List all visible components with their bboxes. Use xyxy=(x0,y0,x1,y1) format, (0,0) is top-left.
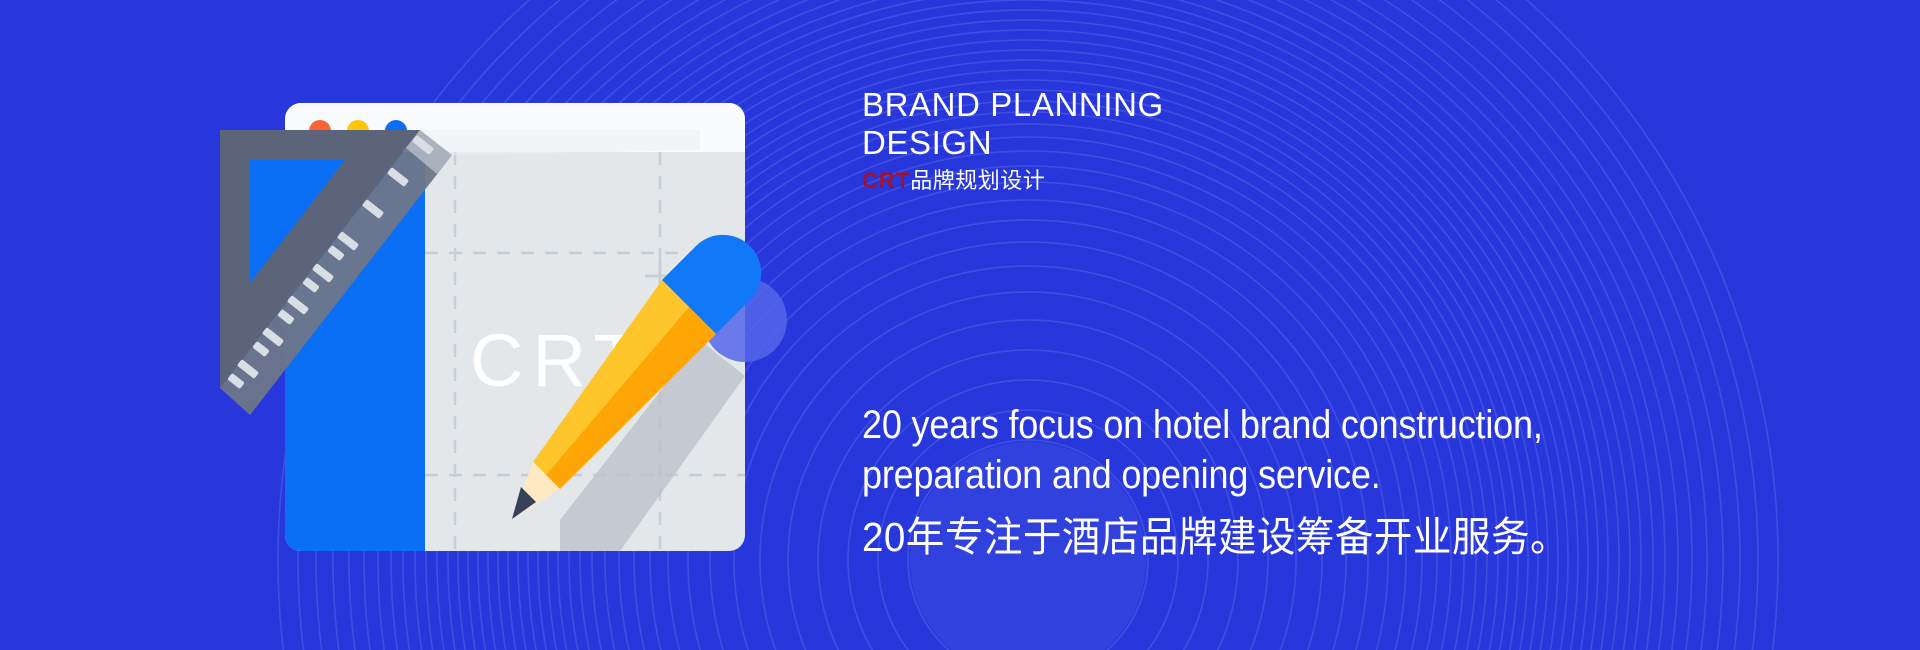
hero-illustration: CRT xyxy=(0,0,860,650)
headline-english-line-1: 20 years focus on hotel brand constructi… xyxy=(862,400,1798,450)
headline-chinese: 20年专注于酒店品牌建设筹备开业服务。 xyxy=(862,513,1840,562)
eyebrow-line-2: DESIGN xyxy=(862,124,1482,162)
headline-block: 20 years focus on hotel brand constructi… xyxy=(862,400,1902,562)
copy-column: BRAND PLANNING DESIGN CRT品牌规划设计 20 years… xyxy=(862,0,1920,650)
banner-root: CRT xyxy=(0,0,1920,650)
eyebrow-chinese: CRT品牌规划设计 xyxy=(862,167,1482,195)
brand-mark-crt: CRT xyxy=(862,168,910,193)
eyebrow-block: BRAND PLANNING DESIGN CRT品牌规划设计 xyxy=(862,86,1482,194)
eyebrow-chinese-text: 品牌规划设计 xyxy=(910,168,1045,193)
headline-english-line-2: preparation and opening service. xyxy=(862,450,1798,500)
eyebrow-line-1: BRAND PLANNING xyxy=(862,86,1482,124)
